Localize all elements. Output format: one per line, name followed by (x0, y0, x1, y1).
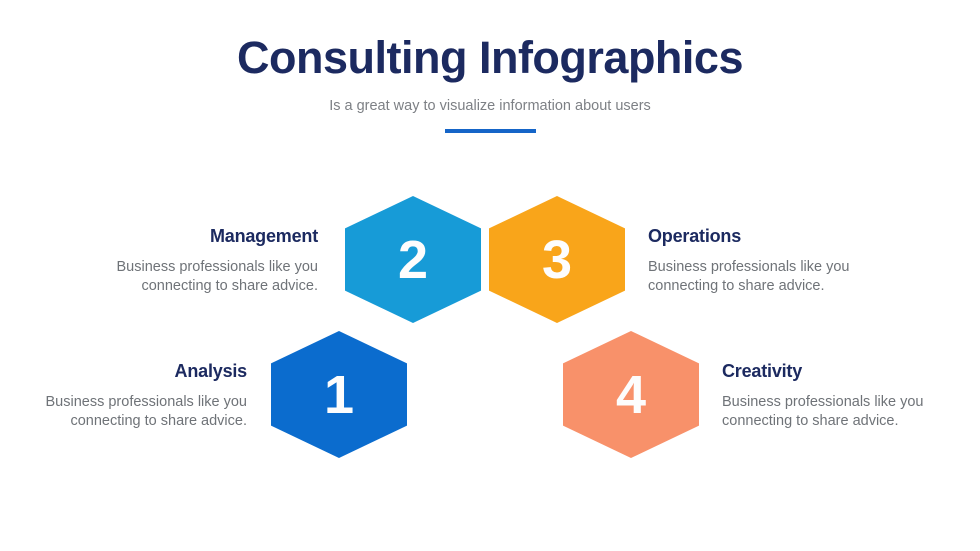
hexagon-step-1[interactable]: 1 (271, 331, 407, 458)
item-block-creativity: Creativity Business professionals like y… (722, 361, 980, 431)
infographic-slide: Consulting Infographics Is a great way t… (0, 0, 980, 551)
title-accent-bar (445, 129, 536, 133)
page-title: Consulting Infographics (0, 34, 980, 81)
page-subtitle: Is a great way to visualize information … (0, 81, 980, 115)
item-title-operations: Operations (648, 226, 908, 248)
hexagon-number-2: 2 (398, 233, 428, 287)
item-description-operations: Business professionals like you connecti… (648, 248, 908, 296)
slide-header: Consulting Infographics Is a great way t… (0, 34, 980, 116)
hexagon-number-1: 1 (324, 368, 354, 422)
hexagon-step-4[interactable]: 4 (563, 331, 699, 458)
item-description-analysis: Business professionals like you connecti… (0, 383, 247, 431)
hexagon-number-4: 4 (616, 368, 646, 422)
item-title-analysis: Analysis (0, 361, 247, 383)
hexagon-number-3: 3 (542, 233, 572, 287)
item-description-management: Business professionals like you connecti… (58, 248, 318, 296)
item-block-analysis: Analysis Business professionals like you… (0, 361, 247, 431)
item-title-management: Management (58, 226, 318, 248)
item-description-creativity: Business professionals like you connecti… (722, 383, 980, 431)
hexagon-step-2[interactable]: 2 (345, 196, 481, 323)
hexagon-step-3[interactable]: 3 (489, 196, 625, 323)
item-block-operations: Operations Business professionals like y… (648, 226, 908, 296)
item-block-management: Management Business professionals like y… (58, 226, 318, 296)
item-title-creativity: Creativity (722, 361, 980, 383)
